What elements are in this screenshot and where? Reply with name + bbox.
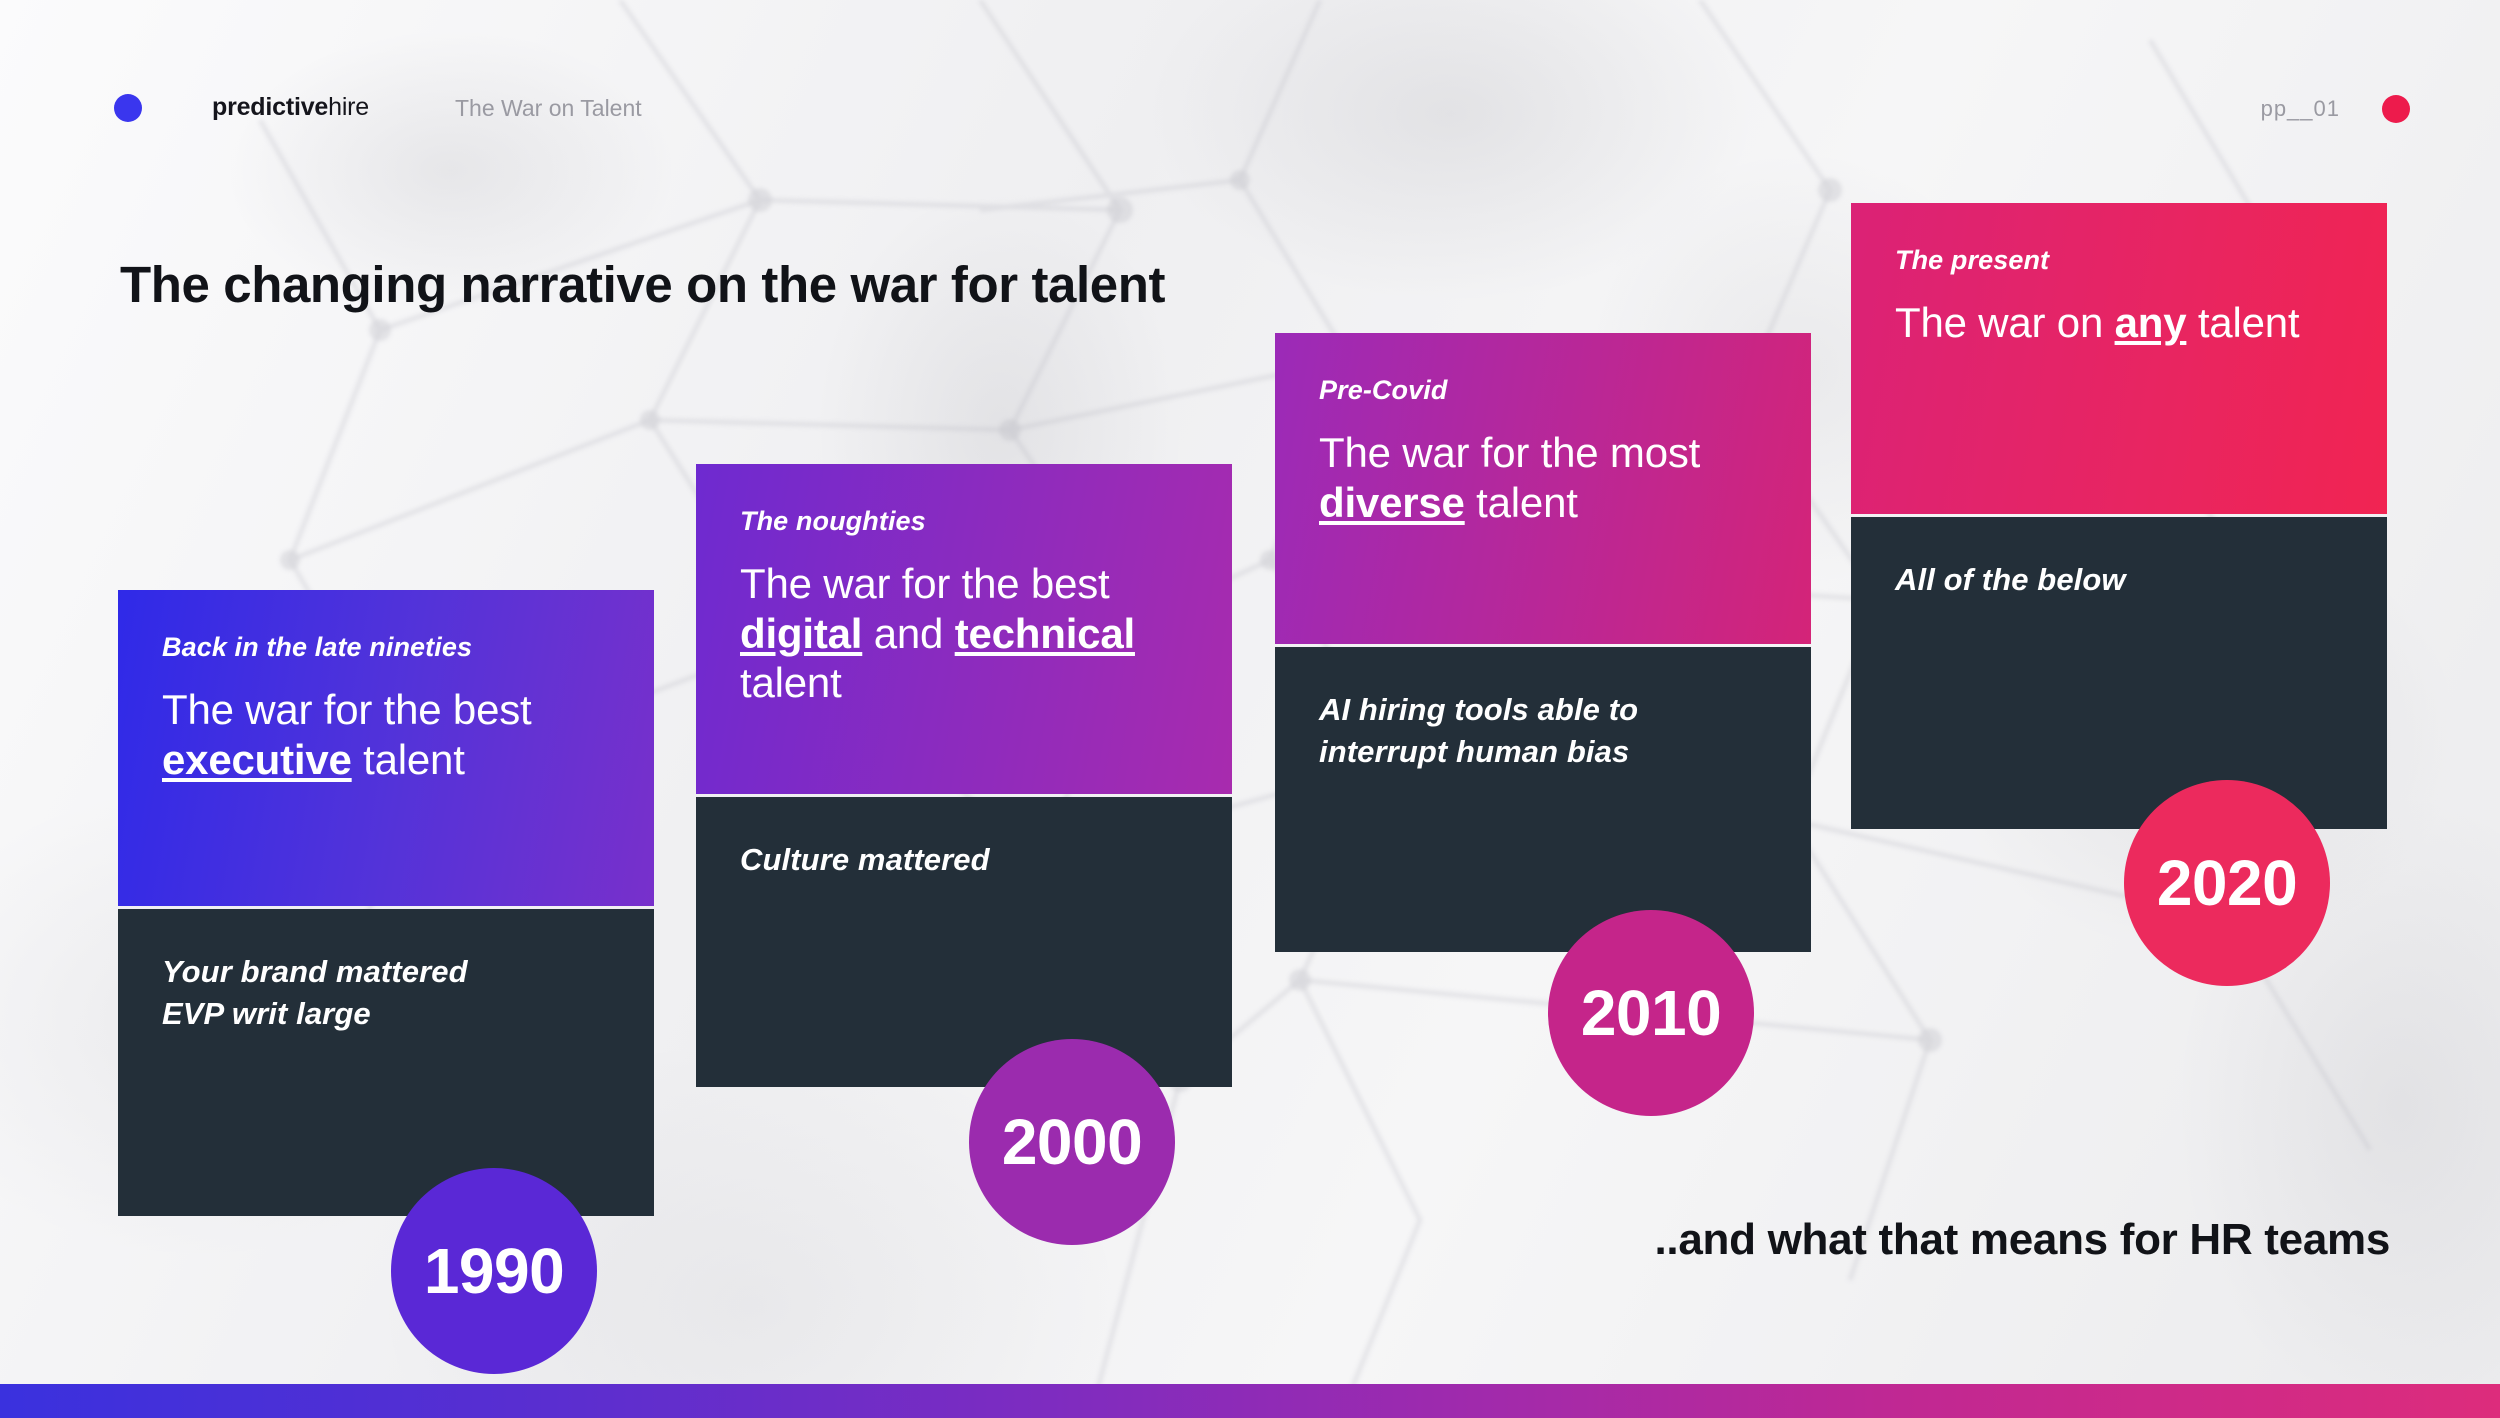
- card-note-line-2010-2: interrupt human bias: [1319, 731, 1767, 773]
- page-number: pp__01: [2261, 96, 2340, 122]
- timeline-note-card-1990: Your brand mattered EVP writ large: [118, 909, 654, 1216]
- timeline-card-2020: The present The war on any talent: [1851, 203, 2387, 514]
- card-headline-pre-1990: The war for the best: [162, 686, 532, 733]
- timeline-column-2010: Pre-Covid The war for the most diverse t…: [1275, 333, 1811, 952]
- brand-wordmark-regular: hire: [328, 93, 369, 121]
- card-headline-pre-2010: The war for the most: [1319, 429, 1700, 476]
- card-note-line-2000-1: Culture mattered: [740, 839, 1188, 881]
- page-title: The changing narrative on the war for ta…: [120, 255, 1165, 314]
- slide-header: predictivehire The War on Talent pp__01: [0, 0, 2500, 180]
- card-headline-post-1990: talent: [352, 736, 465, 783]
- deck-title: The War on Talent: [455, 95, 642, 122]
- card-kicker-2020: The present: [1895, 245, 2343, 276]
- timeline-column-1990: Back in the late nineties The war for th…: [118, 590, 654, 1216]
- card-note-1990: Your brand mattered EVP writ large: [162, 951, 610, 1035]
- timeline-column-2000: The noughties The war for the best digit…: [696, 464, 1232, 1087]
- card-note-2010: AI hiring tools able to interrupt human …: [1319, 689, 1767, 773]
- timeline-card-1990: Back in the late nineties The war for th…: [118, 590, 654, 906]
- card-kicker-2010: Pre-Covid: [1319, 375, 1767, 406]
- card-headline-post-2010: talent: [1465, 479, 1578, 526]
- card-note-line-1990-2: EVP writ large: [162, 993, 610, 1035]
- accent-dot-icon: [2382, 95, 2410, 123]
- card-headline-1990: The war for the best executive talent: [162, 685, 610, 784]
- brand-dot-icon: [114, 94, 142, 122]
- timeline-note-card-2000: Culture mattered: [696, 797, 1232, 1087]
- card-note-2020: All of the below: [1895, 559, 2343, 601]
- card-kicker-2000: The noughties: [740, 506, 1188, 537]
- timeline-note-card-2010: AI hiring tools able to interrupt human …: [1275, 647, 1811, 952]
- card-headline-post-2020: talent: [2186, 299, 2299, 346]
- card-headline-emphasis-1990: executive: [162, 736, 352, 783]
- card-headline-post-2000: talent: [740, 659, 842, 706]
- brand-wordmark-bold: predictive: [212, 93, 328, 121]
- card-headline-2010: The war for the most diverse talent: [1319, 428, 1767, 527]
- year-bubble-2020: 2020: [2124, 780, 2330, 986]
- card-headline-mid-2000: and: [862, 610, 954, 657]
- brand-wordmark: predictivehire: [212, 93, 369, 122]
- year-bubble-2010: 2010: [1548, 910, 1754, 1116]
- page-subtitle: ..and what that means for HR teams: [1654, 1215, 2390, 1265]
- year-bubble-1990: 1990: [391, 1168, 597, 1374]
- timeline-note-card-2020: All of the below: [1851, 517, 2387, 829]
- bottom-gradient-bar: [0, 1384, 2500, 1418]
- timeline-card-2000: The noughties The war for the best digit…: [696, 464, 1232, 794]
- timeline-card-2010: Pre-Covid The war for the most diverse t…: [1275, 333, 1811, 644]
- card-note-line-2020-1: All of the below: [1895, 559, 2343, 601]
- timeline-column-2020: The present The war on any talent All of…: [1851, 203, 2387, 829]
- year-bubble-2000: 2000: [969, 1039, 1175, 1245]
- card-headline-pre-2020: The war on: [1895, 299, 2115, 346]
- card-note-line-2010-1: AI hiring tools able to: [1319, 689, 1767, 731]
- card-headline-emphasis-2010: diverse: [1319, 479, 1465, 526]
- card-headline-pre-2000: The war for the best: [740, 560, 1110, 607]
- card-headline-2000: The war for the best digital and technic…: [740, 559, 1188, 708]
- card-kicker-1990: Back in the late nineties: [162, 632, 610, 663]
- card-headline-emphasis2-2000: technical: [955, 610, 1135, 657]
- card-headline-emphasis-2000: digital: [740, 610, 862, 657]
- card-headline-emphasis-2020: any: [2115, 299, 2187, 346]
- card-note-2000: Culture mattered: [740, 839, 1188, 881]
- card-headline-2020: The war on any talent: [1895, 298, 2343, 348]
- card-note-line-1990-1: Your brand mattered: [162, 951, 610, 993]
